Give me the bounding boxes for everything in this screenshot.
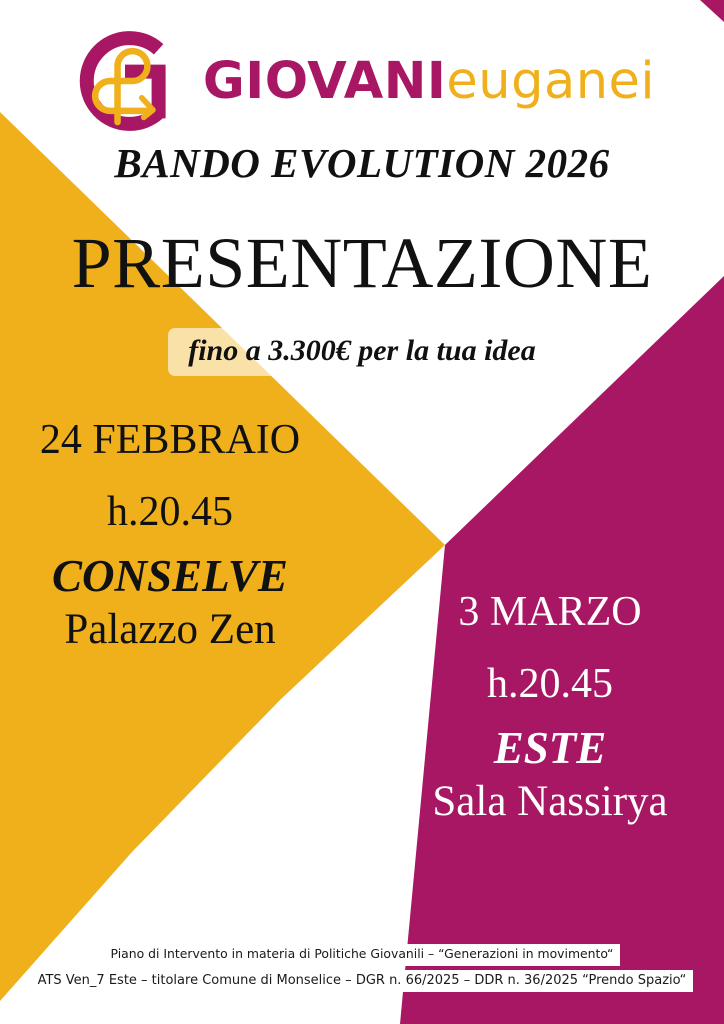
bando-title: BANDO EVOLUTION 2026	[0, 139, 724, 187]
footer-line-2: ATS Ven_7 Este – titolare Comune di Mons…	[31, 970, 694, 993]
event-date: 3 MARZO	[390, 588, 710, 638]
event-date: 24 FEBBRAIO	[10, 416, 330, 466]
logo-wordmark: GIOVANIeuganei	[203, 56, 655, 107]
event-time: h.20.45	[10, 488, 330, 538]
footer-line-1: Piano di Intervento in materia di Politi…	[104, 944, 621, 966]
event-city: CONSELVE	[10, 551, 330, 601]
event-venue: Palazzo Zen	[10, 605, 330, 656]
giovani-euganei-logo-mark	[69, 25, 181, 137]
event-block-conselve: 24 FEBBRAIO h.20.45 CONSELVE Palazzo Zen	[10, 416, 330, 656]
footer: Piano di Intervento in materia di Politi…	[0, 944, 724, 992]
highlight-banner: fino a 3.300€ per la tua idea	[0, 328, 724, 376]
event-time: h.20.45	[390, 660, 710, 710]
magenta-accent-top-right	[700, 0, 724, 22]
event-venue: Sala Nassirya	[390, 777, 710, 828]
event-city: ESTE	[390, 723, 710, 773]
logo-word-euganei: euganei	[446, 56, 655, 107]
event-block-este: 3 MARZO h.20.45 ESTE Sala Nassirya	[390, 588, 710, 828]
poster-canvas: GIOVANIeuganei BANDO EVOLUTION 2026 PRES…	[0, 0, 724, 1024]
logo-word-giovani: GIOVANI	[203, 56, 446, 107]
logo-row: GIOVANIeuganei	[0, 22, 724, 140]
highlight-text: fino a 3.300€ per la tua idea	[168, 328, 556, 376]
page-title: PRESENTAZIONE	[0, 222, 724, 305]
